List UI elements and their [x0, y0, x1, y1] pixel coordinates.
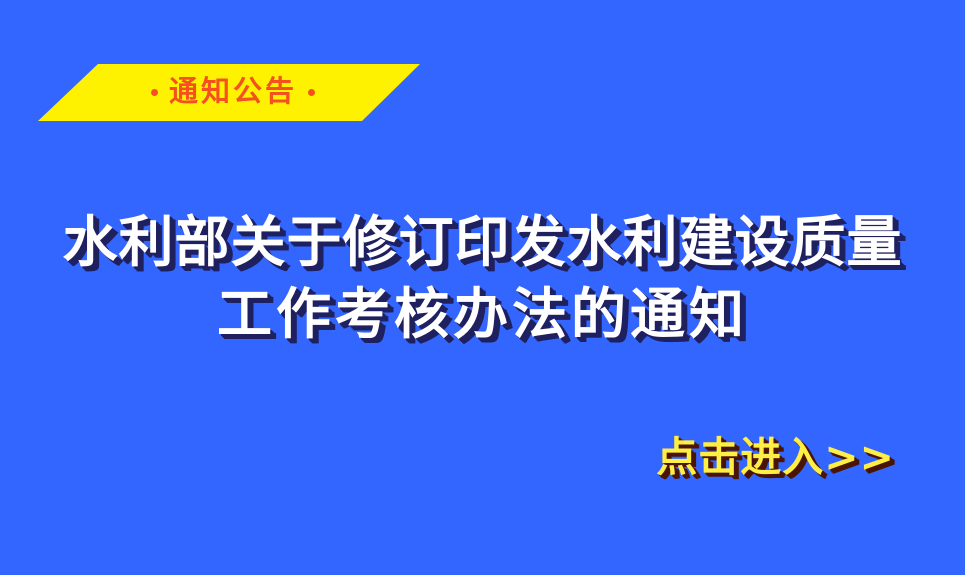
notice-banner: 通知公告 [38, 64, 420, 121]
page-title-line-2: 工作考核办法的通知 [0, 278, 965, 350]
banner-title: 通知公告 [169, 77, 297, 106]
page-title: 水利部关于修订印发水利建设质量 工作考核办法的通知 [0, 206, 965, 350]
banner-label-group: 通知公告 [38, 64, 420, 121]
dot-decoration-right-icon [308, 89, 315, 96]
dot-decoration-left-icon [151, 89, 158, 96]
page-title-line-1: 水利部关于修订印发水利建设质量 [0, 206, 965, 278]
announcement-poster: 通知公告 水利部关于修订印发水利建设质量 工作考核办法的通知 点击进入>> [0, 0, 965, 575]
click-to-enter-link[interactable]: 点击进入>> [656, 434, 895, 481]
